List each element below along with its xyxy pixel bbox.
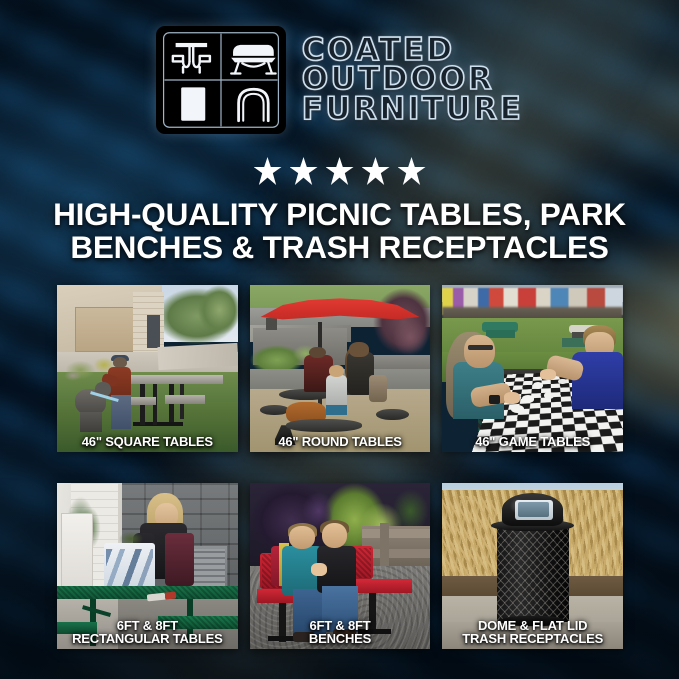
caption-line-2: TRASH RECEPTACLES: [444, 632, 621, 645]
brand-logo: COATED OUTDOOR FURNITURE: [0, 26, 679, 134]
star-icon: [254, 157, 282, 185]
product-caption: 46" ROUND TABLES: [252, 435, 429, 448]
product-caption: 6FT & 8FT RECTANGULAR TABLES: [59, 619, 236, 645]
product-grid: 46" SQUARE TABLES: [57, 285, 623, 649]
product-tile[interactable]: 46" GAME TABLES: [442, 285, 623, 452]
product-tile[interactable]: 46" ROUND TABLES: [250, 285, 431, 452]
caption-line-1: 46" SQUARE TABLES: [59, 435, 236, 448]
star-icon: [326, 157, 354, 185]
star-rating: [0, 157, 679, 185]
product-caption: 6FT & 8FT BENCHES: [252, 619, 429, 645]
caption-line-2: RECTANGULAR TABLES: [59, 632, 236, 645]
headline-line-1: HIGH-QUALITY PICNIC TABLES, PARK: [28, 198, 651, 231]
headline-line-2: BENCHES & TRASH RECEPTACLES: [28, 231, 651, 264]
product-tile[interactable]: 46" SQUARE TABLES: [57, 285, 238, 452]
caption-line-1: 46" ROUND TABLES: [252, 435, 429, 448]
star-icon: [362, 157, 390, 185]
caption-line-2: BENCHES: [252, 632, 429, 645]
product-caption: 46" GAME TABLES: [444, 435, 621, 448]
logo-icon-grid: [156, 26, 286, 134]
product-caption: 46" SQUARE TABLES: [59, 435, 236, 448]
star-icon: [290, 157, 318, 185]
product-photo-game-tables: [442, 285, 623, 452]
product-photo-round-tables: [250, 285, 431, 452]
product-tile[interactable]: 6FT & 8FT BENCHES: [250, 483, 431, 649]
product-tile[interactable]: 6FT & 8FT RECTANGULAR TABLES: [57, 483, 238, 649]
product-tile[interactable]: DOME & FLAT LID TRASH RECEPTACLES: [442, 483, 623, 649]
caption-line-1: 46" GAME TABLES: [444, 435, 621, 448]
table-top-icon: [181, 87, 205, 120]
headline: HIGH-QUALITY PICNIC TABLES, PARK BENCHES…: [28, 198, 651, 264]
product-photo-square-tables: [57, 285, 238, 452]
product-caption: DOME & FLAT LID TRASH RECEPTACLES: [444, 619, 621, 645]
advertisement-banner: COATED OUTDOOR FURNITURE HIGH-QUALITY PI…: [0, 0, 679, 679]
logo-word-furniture: FURNITURE: [302, 95, 524, 124]
star-icon: [398, 157, 426, 185]
logo-wordmark: COATED OUTDOOR FURNITURE: [302, 36, 524, 123]
